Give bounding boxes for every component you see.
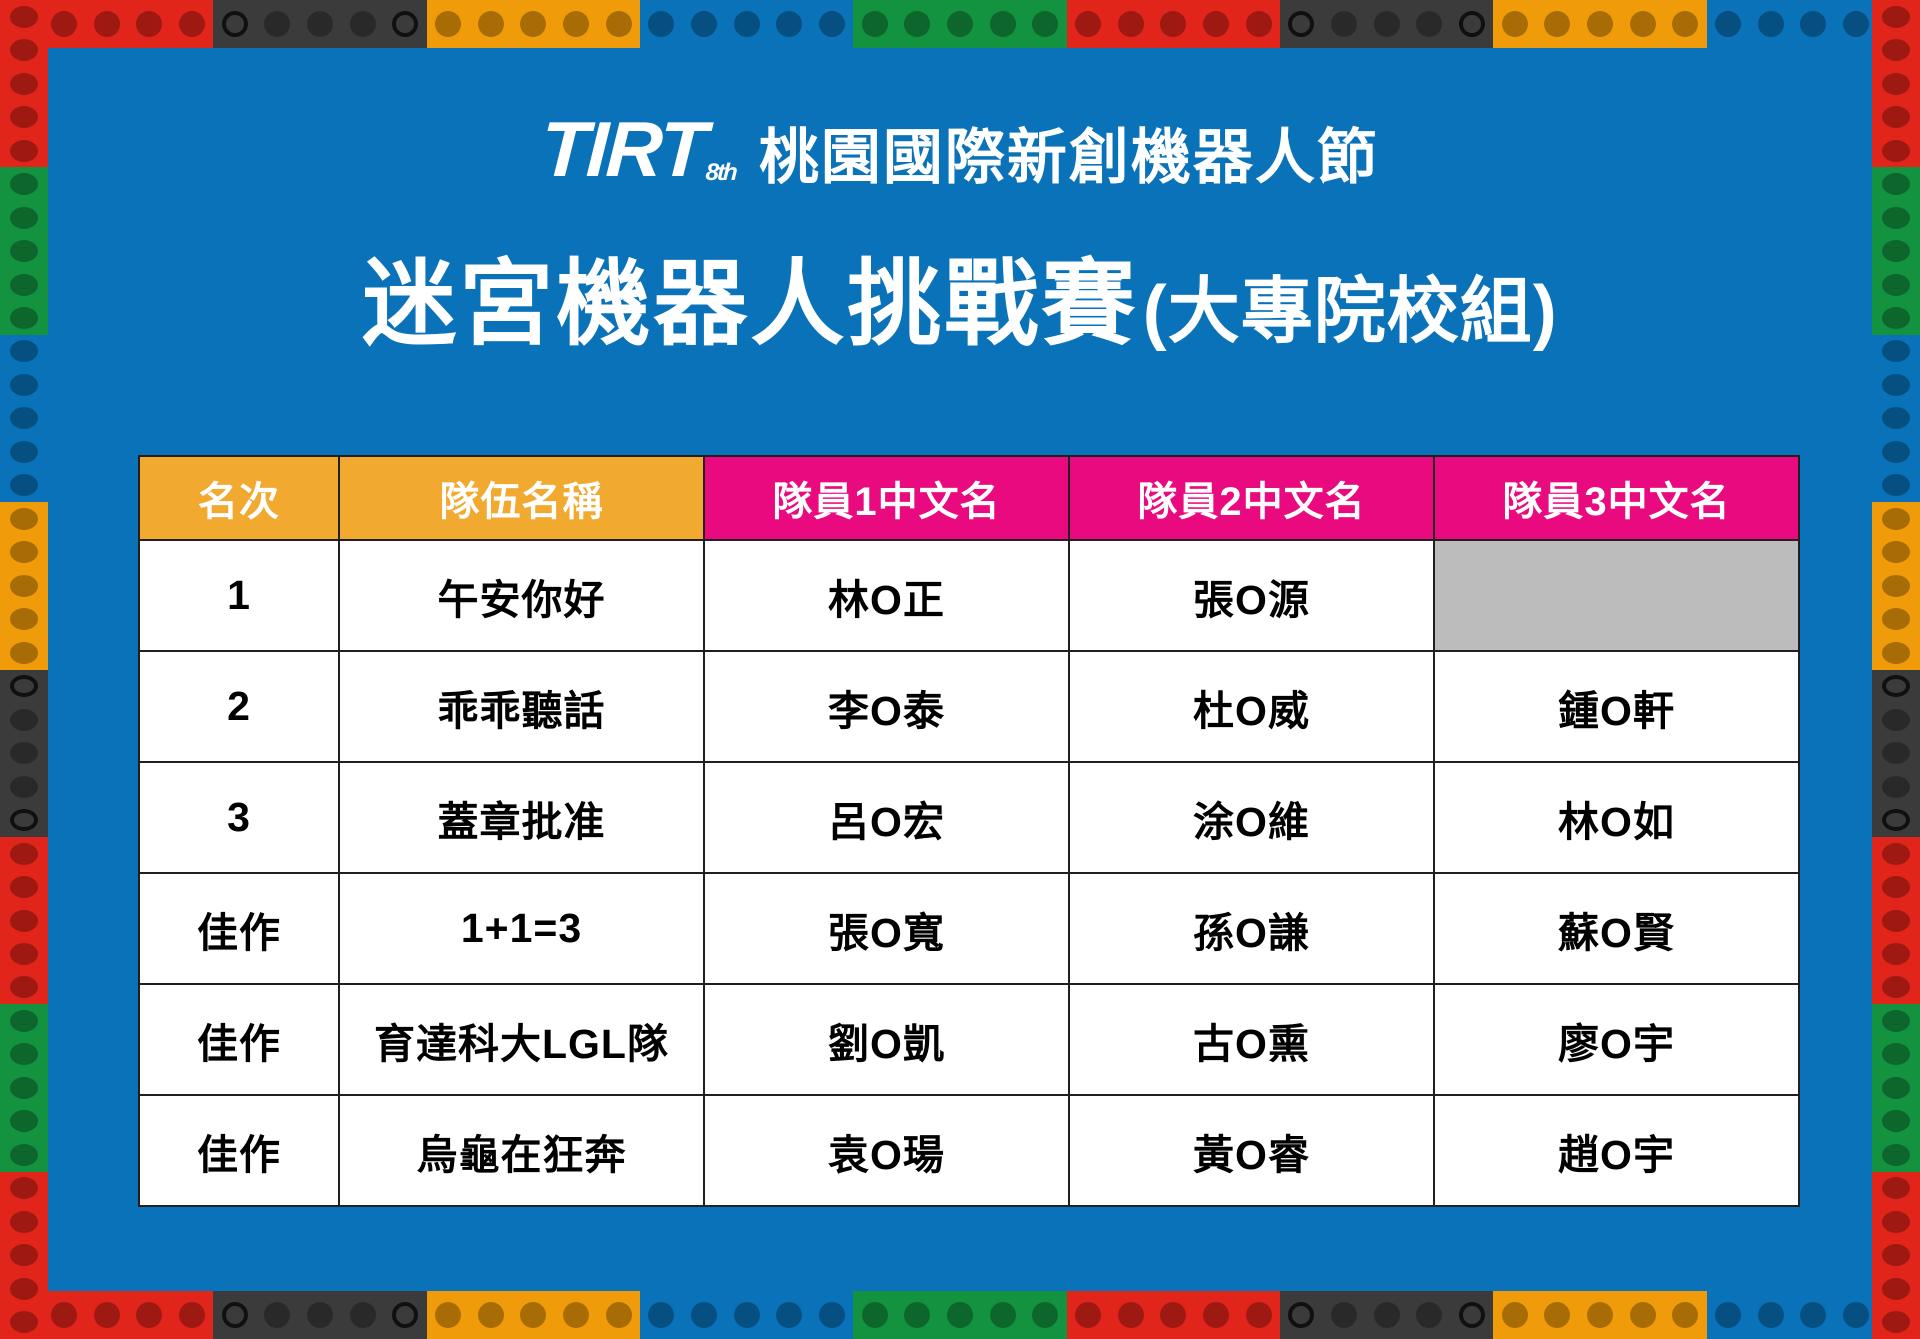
table-row: 佳作1+1=3張O寬孫O謙蘇O賢 xyxy=(139,873,1799,984)
lego-stud-icon xyxy=(307,11,333,37)
lego-stud-icon xyxy=(10,441,38,463)
team-name-cell: 乖乖聽話 xyxy=(339,651,704,762)
lego-stud-icon xyxy=(1502,11,1528,37)
lego-stud-icon xyxy=(776,11,802,37)
lego-stud-icon xyxy=(1672,1302,1698,1328)
lego-stud-icon xyxy=(350,1302,376,1328)
lego-stud-icon xyxy=(10,39,38,61)
column-header-member-2: 隊員2中文名 xyxy=(1069,456,1434,540)
lego-brick xyxy=(1067,0,1280,48)
member-2-cell: 古O熏 xyxy=(1069,984,1434,1095)
member-1-cell: 張O寬 xyxy=(704,873,1069,984)
lego-stud-icon xyxy=(691,1302,717,1328)
lego-stud-icon xyxy=(10,910,38,932)
lego-stud-icon xyxy=(947,1302,973,1328)
lego-stud-icon xyxy=(10,675,38,697)
lego-stud-icon xyxy=(1331,1302,1357,1328)
lego-stud-icon xyxy=(1882,1010,1910,1032)
team-name-cell: 午安你好 xyxy=(339,540,704,651)
lego-stud-icon xyxy=(1587,1302,1613,1328)
lego-brick xyxy=(1067,1291,1280,1339)
lego-stud-icon xyxy=(1331,11,1357,37)
team-name-cell: 蓋章批准 xyxy=(339,762,704,873)
lego-stud-icon xyxy=(10,407,38,429)
member-1-cell: 劉O凱 xyxy=(704,984,1069,1095)
tirt-logo: TIRT 8th xyxy=(539,110,739,188)
lego-stud-icon xyxy=(1882,1244,1910,1266)
lego-stud-icon xyxy=(1882,6,1910,28)
lego-stud-icon xyxy=(1882,441,1910,463)
lego-stud-icon xyxy=(1882,976,1910,998)
member-2-cell: 涂O維 xyxy=(1069,762,1434,873)
lego-stud-icon xyxy=(606,1302,632,1328)
lego-stud-icon xyxy=(10,6,38,28)
member-1-cell: 呂O宏 xyxy=(704,762,1069,873)
lego-stud-icon xyxy=(1459,1302,1485,1328)
lego-stud-icon xyxy=(1032,1302,1058,1328)
lego-stud-icon xyxy=(990,11,1016,37)
member-3-cell: 廖O宇 xyxy=(1434,984,1799,1095)
lego-stud-icon xyxy=(1246,1302,1272,1328)
table-row: 3蓋章批准呂O宏涂O維林O如 xyxy=(139,762,1799,873)
lego-stud-icon xyxy=(1882,1077,1910,1099)
lego-stud-icon xyxy=(1882,474,1910,496)
lego-stud-icon xyxy=(1203,1302,1229,1328)
page-title-sub: (大專院校組) xyxy=(1143,272,1558,352)
lego-brick xyxy=(1493,0,1706,48)
lego-brick xyxy=(1280,0,1493,48)
lego-brick xyxy=(1280,1291,1493,1339)
lego-stud-icon xyxy=(1160,1302,1186,1328)
lego-stud-icon xyxy=(1882,943,1910,965)
lego-stud-icon xyxy=(264,1302,290,1328)
lego-stud-icon xyxy=(10,742,38,764)
lego-brick xyxy=(640,1291,853,1339)
lego-stud-icon xyxy=(392,1302,418,1328)
table-row: 1午安你好林O正張O源 xyxy=(139,540,1799,651)
lego-stud-icon xyxy=(10,1177,38,1199)
lego-stud-icon xyxy=(1882,675,1910,697)
lego-stud-icon xyxy=(563,11,589,37)
member-3-cell: 蘇O賢 xyxy=(1434,873,1799,984)
rank-cell: 3 xyxy=(139,762,339,873)
lego-stud-icon xyxy=(648,11,674,37)
lego-stud-icon xyxy=(1882,608,1910,630)
lego-stud-icon xyxy=(478,11,504,37)
team-name-cell: 烏龜在狂奔 xyxy=(339,1095,704,1206)
column-header-team: 隊伍名稱 xyxy=(339,456,704,540)
rank-cell: 佳作 xyxy=(139,984,339,1095)
lego-stud-icon xyxy=(10,709,38,731)
lego-stud-icon xyxy=(264,11,290,37)
lego-stud-icon xyxy=(1544,1302,1570,1328)
lego-stud-icon xyxy=(1075,11,1101,37)
page-title: 迷宮機器人挑戰賽 (大專院校組) xyxy=(0,228,1920,364)
lego-stud-icon xyxy=(10,474,38,496)
lego-stud-icon xyxy=(222,1302,248,1328)
member-2-cell: 杜O威 xyxy=(1069,651,1434,762)
lego-brick xyxy=(0,502,48,669)
lego-border-bottom xyxy=(0,1291,1920,1339)
lego-stud-icon xyxy=(94,11,120,37)
lego-stud-icon xyxy=(10,776,38,798)
lego-brick xyxy=(0,837,48,1004)
lego-brick xyxy=(0,1172,48,1339)
lego-stud-icon xyxy=(10,73,38,95)
member-2-cell: 孫O謙 xyxy=(1069,873,1434,984)
lego-stud-icon xyxy=(947,11,973,37)
lego-brick xyxy=(853,1291,1066,1339)
member-3-cell: 趙O宇 xyxy=(1434,1095,1799,1206)
lego-stud-icon xyxy=(1882,1311,1910,1333)
lego-stud-icon xyxy=(10,1077,38,1099)
lego-brick xyxy=(1872,1004,1920,1171)
lego-stud-icon xyxy=(563,1302,589,1328)
lego-stud-icon xyxy=(222,11,248,37)
lego-stud-icon xyxy=(1882,843,1910,865)
lego-stud-icon xyxy=(10,976,38,998)
lego-stud-icon xyxy=(1288,1302,1314,1328)
lego-stud-icon xyxy=(691,11,717,37)
lego-brick xyxy=(1872,1172,1920,1339)
lego-stud-icon xyxy=(1630,11,1656,37)
team-name-cell: 育達科大LGL隊 xyxy=(339,984,704,1095)
lego-brick xyxy=(1872,670,1920,837)
lego-stud-icon xyxy=(1587,11,1613,37)
lego-stud-icon xyxy=(1160,11,1186,37)
poster-header: TIRT 8th 桃園國際新創機器人節 xyxy=(0,110,1920,188)
page-title-main: 迷宮機器人挑戰賽 xyxy=(362,251,1138,356)
lego-stud-icon xyxy=(1882,575,1910,597)
lego-brick xyxy=(1493,1291,1706,1339)
table-row: 佳作育達科大LGL隊劉O凱古O熏廖O宇 xyxy=(139,984,1799,1095)
table-row: 佳作烏龜在狂奔袁O瑒黃O睿趙O宇 xyxy=(139,1095,1799,1206)
rank-cell: 佳作 xyxy=(139,873,339,984)
lego-stud-icon xyxy=(179,11,205,37)
lego-stud-icon xyxy=(1246,11,1272,37)
member-1-cell: 袁O瑒 xyxy=(704,1095,1069,1206)
lego-stud-icon xyxy=(990,1302,1016,1328)
lego-stud-icon xyxy=(904,1302,930,1328)
table-header-row: 名次 隊伍名稱 隊員1中文名 隊員2中文名 隊員3中文名 xyxy=(139,456,1799,540)
lego-brick xyxy=(213,1291,426,1339)
tirt-logo-text: TIRT xyxy=(539,110,707,188)
lego-stud-icon xyxy=(1203,11,1229,37)
lego-stud-icon xyxy=(1882,709,1910,731)
lego-stud-icon xyxy=(435,1302,461,1328)
lego-stud-icon xyxy=(1882,374,1910,396)
lego-stud-icon xyxy=(1882,1043,1910,1065)
lego-stud-icon xyxy=(1502,1302,1528,1328)
results-table-body: 1午安你好林O正張O源2乖乖聽話李O泰杜O威鍾O軒3蓋章批准呂O宏涂O維林O如佳… xyxy=(139,540,1799,1206)
lego-stud-icon xyxy=(1715,1302,1741,1328)
lego-stud-icon xyxy=(1416,1302,1442,1328)
lego-border-right xyxy=(1872,0,1920,1339)
lego-stud-icon xyxy=(1882,207,1910,229)
rank-cell: 佳作 xyxy=(139,1095,339,1206)
lego-stud-icon xyxy=(1843,11,1869,37)
results-table: 名次 隊伍名稱 隊員1中文名 隊員2中文名 隊員3中文名 1午安你好林O正張O源… xyxy=(138,455,1800,1207)
member-1-cell: 李O泰 xyxy=(704,651,1069,762)
lego-brick xyxy=(853,0,1066,48)
lego-brick xyxy=(640,0,853,48)
lego-stud-icon xyxy=(10,642,38,664)
lego-border-left xyxy=(0,0,48,1339)
lego-stud-icon xyxy=(520,1302,546,1328)
member-2-cell: 黃O睿 xyxy=(1069,1095,1434,1206)
lego-stud-icon xyxy=(10,843,38,865)
lego-stud-icon xyxy=(435,11,461,37)
lego-stud-icon xyxy=(1882,407,1910,429)
lego-stud-icon xyxy=(10,1043,38,1065)
table-row: 2乖乖聽話李O泰杜O威鍾O軒 xyxy=(139,651,1799,762)
lego-stud-icon xyxy=(1672,11,1698,37)
lego-stud-icon xyxy=(1882,39,1910,61)
lego-stud-icon xyxy=(862,1302,888,1328)
lego-stud-icon xyxy=(734,11,760,37)
lego-stud-icon xyxy=(51,1302,77,1328)
lego-stud-icon xyxy=(1758,1302,1784,1328)
lego-stud-icon xyxy=(520,11,546,37)
lego-stud-icon xyxy=(904,11,930,37)
lego-stud-icon xyxy=(776,1302,802,1328)
lego-stud-icon xyxy=(392,11,418,37)
rank-cell: 1 xyxy=(139,540,339,651)
lego-stud-icon xyxy=(1882,1177,1910,1199)
lego-brick xyxy=(427,1291,640,1339)
lego-brick xyxy=(0,1004,48,1171)
lego-stud-icon xyxy=(307,1302,333,1328)
lego-stud-icon xyxy=(1374,11,1400,37)
lego-stud-icon xyxy=(1882,1211,1910,1233)
lego-stud-icon xyxy=(648,1302,674,1328)
lego-stud-icon xyxy=(1075,1302,1101,1328)
lego-brick xyxy=(0,670,48,837)
lego-stud-icon xyxy=(10,1278,38,1300)
lego-stud-icon xyxy=(10,876,38,898)
lego-stud-icon xyxy=(10,541,38,563)
lego-stud-icon xyxy=(10,1244,38,1266)
lego-stud-icon xyxy=(10,1144,38,1166)
lego-stud-icon xyxy=(1800,1302,1826,1328)
lego-stud-icon xyxy=(1032,11,1058,37)
lego-stud-icon xyxy=(1843,1302,1869,1328)
lego-brick xyxy=(1872,837,1920,1004)
lego-stud-icon xyxy=(819,11,845,37)
tirt-logo-edition: 8th xyxy=(705,161,736,185)
results-table-head: 名次 隊伍名稱 隊員1中文名 隊員2中文名 隊員3中文名 xyxy=(139,456,1799,540)
lego-stud-icon xyxy=(1882,1278,1910,1300)
empty-cell xyxy=(1434,540,1799,651)
lego-stud-icon xyxy=(350,11,376,37)
lego-stud-icon xyxy=(1882,541,1910,563)
column-header-member-1: 隊員1中文名 xyxy=(704,456,1069,540)
lego-stud-icon xyxy=(1288,11,1314,37)
festival-name: 桃園國際新創機器人節 xyxy=(759,128,1379,188)
lego-stud-icon xyxy=(10,1110,38,1132)
member-2-cell: 張O源 xyxy=(1069,540,1434,651)
member-3-cell: 林O如 xyxy=(1434,762,1799,873)
lego-stud-icon xyxy=(1630,1302,1656,1328)
lego-stud-icon xyxy=(1882,742,1910,764)
lego-stud-icon xyxy=(10,809,38,831)
lego-stud-icon xyxy=(606,11,632,37)
rank-cell: 2 xyxy=(139,651,339,762)
lego-stud-icon xyxy=(10,1311,38,1333)
lego-stud-icon xyxy=(1758,11,1784,37)
lego-stud-icon xyxy=(1882,642,1910,664)
lego-stud-icon xyxy=(10,1010,38,1032)
poster-root: TIRT 8th 桃園國際新創機器人節 迷宮機器人挑戰賽 (大專院校組) 名次 … xyxy=(0,0,1920,1339)
lego-stud-icon xyxy=(94,1302,120,1328)
lego-stud-icon xyxy=(10,943,38,965)
lego-stud-icon xyxy=(10,575,38,597)
lego-stud-icon xyxy=(179,1302,205,1328)
column-header-rank: 名次 xyxy=(139,456,339,540)
lego-stud-icon xyxy=(1882,508,1910,530)
lego-stud-icon xyxy=(1882,776,1910,798)
lego-stud-icon xyxy=(1459,11,1485,37)
lego-stud-icon xyxy=(1416,11,1442,37)
lego-border-top xyxy=(0,0,1920,48)
lego-stud-icon xyxy=(1882,910,1910,932)
lego-brick xyxy=(1872,502,1920,669)
results-table-wrapper: 名次 隊伍名稱 隊員1中文名 隊員2中文名 隊員3中文名 1午安你好林O正張O源… xyxy=(138,455,1798,1207)
lego-stud-icon xyxy=(136,1302,162,1328)
lego-stud-icon xyxy=(136,11,162,37)
lego-stud-icon xyxy=(10,374,38,396)
lego-stud-icon xyxy=(862,11,888,37)
lego-stud-icon xyxy=(10,608,38,630)
lego-stud-icon xyxy=(1882,809,1910,831)
member-3-cell: 鍾O軒 xyxy=(1434,651,1799,762)
lego-stud-icon xyxy=(51,11,77,37)
lego-stud-icon xyxy=(1800,11,1826,37)
column-header-member-3: 隊員3中文名 xyxy=(1434,456,1799,540)
lego-stud-icon xyxy=(478,1302,504,1328)
lego-stud-icon xyxy=(1882,1144,1910,1166)
lego-stud-icon xyxy=(1882,876,1910,898)
lego-stud-icon xyxy=(10,508,38,530)
lego-stud-icon xyxy=(10,207,38,229)
lego-stud-icon xyxy=(1882,1110,1910,1132)
lego-stud-icon xyxy=(734,1302,760,1328)
lego-stud-icon xyxy=(1118,11,1144,37)
lego-stud-icon xyxy=(1374,1302,1400,1328)
lego-stud-icon xyxy=(1544,11,1570,37)
lego-stud-icon xyxy=(10,1211,38,1233)
lego-stud-icon xyxy=(1882,73,1910,95)
member-1-cell: 林O正 xyxy=(704,540,1069,651)
lego-brick xyxy=(427,0,640,48)
lego-stud-icon xyxy=(1715,11,1741,37)
lego-stud-icon xyxy=(1118,1302,1144,1328)
lego-stud-icon xyxy=(819,1302,845,1328)
team-name-cell: 1+1=3 xyxy=(339,873,704,984)
lego-brick xyxy=(213,0,426,48)
